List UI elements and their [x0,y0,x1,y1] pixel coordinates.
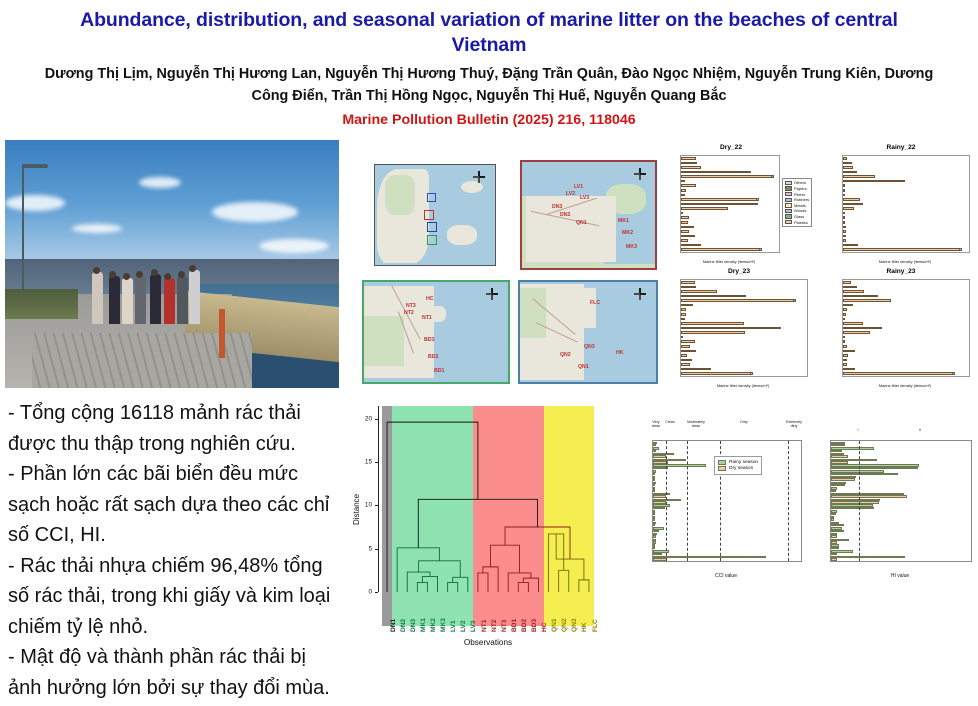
bar [843,198,860,201]
photo-person-head [93,267,100,274]
plot-area: FLCHKQN3QN2QN1HCBD3BD2BD1NT3NT2NT1LV3LV2… [830,440,972,562]
finding-4: - Mật độ và thành phần rác thải bị ảnh h… [8,642,338,703]
bar [831,524,844,526]
bar [653,478,655,480]
bar [681,166,701,169]
bar [843,372,955,375]
site-label-DN2: DN2 [560,212,570,218]
bar [843,313,846,316]
photo-person [92,272,103,324]
bar [843,368,855,371]
bar [843,244,858,247]
x-tick-mark [915,561,916,562]
plot-area: FLCHKQN3QN2QN1HCBD3BD2BD1NT3NT2NT1LV3LV2… [842,279,970,377]
bar [681,363,690,366]
threshold-label: Moderately clean [682,420,710,428]
chart-title: Rainy_22 [838,144,964,151]
study-area-maps: LV1 LV2 LV3 DN3 DN2 QN1 MK1 MK2 MK3 HC N… [360,142,656,388]
threshold-line [788,441,789,561]
x-axis-label: Marine litter density (items/m²) [680,259,778,264]
legend-label: Rubbers [794,197,809,202]
bar [681,322,744,325]
site-label-DN3: DN3 [552,204,562,210]
x-tick-mark [859,561,860,562]
bar [843,221,845,224]
bar-segment [778,327,781,330]
x-tick-mark [868,252,869,253]
map-panel-quang-ninh[interactable]: FLC QN3 QN2 QN1 HK [518,280,658,384]
bar [831,484,845,486]
x-tick-mark [747,561,748,562]
bar [653,455,666,457]
bar [653,501,666,503]
legend-swatch [785,186,792,190]
bar [681,318,685,321]
bar [681,345,690,348]
legend-label: Woods [794,208,806,213]
author-list: Dương Thị Lịm, Nguyễn Thị Hương Lan, Ngu… [0,58,978,107]
x-axis-label: HI value [830,573,970,579]
x-tick-mark [714,252,715,253]
x-tick-mark [887,561,888,562]
chart-rainy23[interactable]: Rainy_23FLCHKQN3QN2QN1HCBD3BD2BD1NT3NT2N… [820,266,978,390]
bar [843,304,853,307]
bar [843,180,905,183]
bar [831,541,837,543]
photo-person [150,274,161,324]
chart-title: Rainy_23 [838,268,964,275]
legend-item: Rainy season [718,459,758,466]
legend-swatch [718,466,726,471]
bar [681,368,711,371]
x-tick-mark [693,561,694,562]
x-tick-mark [735,252,736,253]
chart-rainy22[interactable]: Rainy_22FLCHKQN3QN2QN1HCBD3BD2BD1NT3NT2N… [820,142,978,266]
bar [831,530,844,532]
legend-label: Rainy season [729,460,758,465]
x-tick-mark [843,376,844,377]
x-tick-mark [774,561,775,562]
bar [681,207,728,210]
finding-2: - Phần lớn các bãi biển đều mức sạch hoặ… [8,459,338,551]
bar [831,518,834,520]
bar-segment [952,372,955,375]
photo-person-head [123,273,130,280]
site-label-HK: HK [616,350,624,356]
site-label-LV3: LV3 [580,195,589,201]
bar [831,556,905,558]
bar [843,359,847,362]
site-label-NT3: NT3 [406,303,416,309]
site-label-MK1: MK1 [618,218,629,224]
bar [681,248,762,251]
photo-cloud [5,195,65,211]
x-tick-mark [944,252,945,253]
x-tick-mark [725,252,726,253]
x-tick-mark [731,376,732,377]
x-tick-mark [680,561,681,562]
bar [681,340,695,343]
bar [831,501,879,503]
photo-cloud [139,177,181,188]
bar [681,221,688,224]
photo-lamp-post [22,165,24,294]
bar [843,281,851,284]
legend-swatch [785,214,792,218]
bar [843,157,847,160]
bar [843,290,864,293]
photo-person-head [151,269,158,276]
photo-person [164,278,175,324]
bar [843,216,845,219]
x-tick-mark [933,376,934,377]
bar [843,354,848,357]
site-label-QN1: QN1 [578,364,589,370]
bar-segment [748,171,751,174]
finding-1: - Tổng cộng 16118 mảnh rác thải được thu… [8,398,338,459]
bar [843,322,863,325]
bar [843,212,845,215]
dendrogram-tree [342,396,642,646]
bar [681,313,686,316]
plot-area: FLCHKQN3QN2QN1HCBD3BD2BD1NT3NT2NT1LV3LV2… [680,155,780,253]
bar [653,495,666,497]
legend-item: Plastics [785,219,809,225]
site-label-HC: HC [426,296,434,302]
x-tick-mark [897,376,898,377]
site-label-NT1: NT1 [422,315,432,321]
bar [681,184,696,187]
chart-legend: OthersPapersFibersRubbersMetalsWoodsGlas… [782,178,812,227]
x-tick-mark [915,376,916,377]
chart-dry22[interactable]: Dry_22FLCHKQN3QN2QN1HCBD3BD2BD1NT3NT2NT1… [658,142,818,266]
x-tick-mark [831,561,832,562]
bar [843,189,845,192]
bar [681,308,686,311]
bar [831,461,848,463]
bar [843,239,846,242]
bar [831,455,848,457]
bar [843,295,878,298]
photo-person-head [109,271,116,278]
bar [843,363,847,366]
legend-item: Papers [785,186,809,192]
finding-3: - Rác thải nhựa chiếm 96,48% tổng số rác… [8,551,338,643]
x-tick-mark [807,376,808,377]
poster-header: Abundance, distribution, and seasonal va… [0,0,978,132]
chart-hi[interactable]: FLCHKQN3QN2QN1HCBD3BD2BD1NT3NT2NT1LV3LV2… [806,408,978,593]
x-tick-mark [919,252,920,253]
index-panels: FLCHKQN3QN2QN1HCBD3BD2BD1NT3NT2NT1LV3LV2… [630,408,978,593]
threshold-label: Extremely dirty [780,420,808,428]
bar [653,473,655,475]
map-panel-south-central[interactable]: HC NT3 NT2 NT1 BD3 BD2 BD1 [362,280,510,384]
x-tick-mark [720,561,721,562]
bar [653,444,656,446]
bar [831,558,837,560]
bar-segment [750,372,753,375]
bar [831,444,845,446]
site-label-FLC: FLC [590,300,600,306]
photo-person-head [136,271,143,278]
site-label-QN2: QN2 [560,352,571,358]
legend-swatch [718,460,726,465]
legend-item: Dry season [718,466,758,473]
bar [681,189,686,192]
bar [653,484,655,486]
legend-swatch [785,220,792,224]
legend-swatch [785,192,792,196]
chart-title: Dry_22 [676,144,786,151]
threshold-label: II [906,428,934,432]
x-tick-mark [801,561,802,562]
x-tick-mark [788,561,789,562]
x-tick-mark [861,376,862,377]
x-tick-mark [734,561,735,562]
x-tick-mark [768,252,769,253]
bar [653,556,766,558]
bar [681,350,696,353]
poster-root: Abundance, distribution, and seasonal va… [0,0,978,706]
bar [653,513,655,515]
bar [843,340,845,343]
x-tick-mark [757,376,758,377]
bar [843,207,854,210]
compass-rose-icon [473,171,485,183]
x-tick-mark [879,376,880,377]
x-tick-mark [843,252,844,253]
legend-label: Dry season [729,466,753,471]
bar [681,194,685,197]
x-tick-mark [779,252,780,253]
threshold-line [859,441,860,561]
bar [831,513,836,515]
photo-person [177,276,188,324]
bar [831,495,907,497]
x-axis-label: Marine litter density (items/m²) [842,259,968,264]
legend-label: Papers [794,186,807,191]
bar [681,304,693,307]
photo-orange-post [219,309,225,359]
bar [653,541,656,543]
bar [653,547,655,549]
bar [681,212,683,215]
bar [831,478,855,480]
x-axis-label: CCI value [652,573,800,579]
chart-cci[interactable]: FLCHKQN3QN2QN1HCBD3BD2BD1NT3NT2NT1LV3LV2… [630,408,806,593]
bar [843,299,891,302]
x-tick-mark [681,252,682,253]
bar [843,318,845,321]
site-label-BD1: BD1 [434,368,444,374]
bar [681,157,696,160]
bar-segment [793,299,796,302]
bar [681,244,701,247]
bar [681,180,685,183]
bar [843,350,855,353]
bar [681,235,695,238]
bar [653,553,662,555]
legend-label: Fibers [794,192,805,197]
bar [681,299,796,302]
site-label-LV2: LV2 [566,191,575,197]
bar [653,450,656,452]
x-tick-mark [703,252,704,253]
threshold-label: I [844,428,872,432]
bar [843,286,857,289]
bar [681,290,717,293]
threshold-line [666,441,667,561]
bar [681,359,692,362]
bar [843,162,852,165]
bar [681,175,774,178]
bar [653,535,656,537]
site-label-BD2: BD2 [428,354,438,360]
journal-citation: Marine Pollution Bulletin (2025) 216, 11… [0,107,978,129]
bar [681,354,687,357]
bar [843,331,870,334]
chart-dendrogram[interactable]: 05101520DistanceObservationsDN1DN2DN3MK1… [342,396,642,646]
bar [843,194,845,197]
threshold-label: Dirty [730,420,758,424]
x-tick-mark [969,376,970,377]
threshold-line [687,441,688,561]
bar [831,507,874,509]
bar [653,558,667,560]
x-tick-mark [653,561,654,562]
x-tick-mark [761,561,762,562]
photo-cloud [212,202,298,222]
compass-rose-icon [634,168,646,180]
bar [653,530,659,532]
compass-rose-icon [486,288,498,300]
x-tick-mark [706,376,707,377]
bar [843,175,875,178]
bar [681,198,759,201]
bar [653,507,665,509]
legend-swatch [785,198,792,202]
photo-person [122,278,133,324]
x-tick-mark [782,376,783,377]
fieldwork-photo [5,140,339,388]
chart-title: Dry_23 [676,268,802,275]
bar [843,248,962,251]
legend-label: Others [794,180,806,185]
bar [843,308,847,311]
x-tick-mark [692,252,693,253]
legend-item: Others [785,180,809,186]
site-label-MK3: MK3 [626,244,637,250]
bar [831,535,837,537]
bar [843,166,853,169]
bar [843,226,846,229]
photo-street-lamp [22,164,48,168]
legend-swatch [785,181,792,185]
bar [681,336,683,339]
bar [681,281,695,284]
bar [681,286,696,289]
bar [831,473,898,475]
bar [681,295,746,298]
bar [681,216,689,219]
x-axis-label: Marine litter density (items/m²) [680,383,806,388]
photo-person [135,276,146,324]
x-axis-label: Marine litter density (items/m²) [842,383,968,388]
litter-density-panels: Dry_22FLCHKQN3QN2QN1HCBD3BD2BD1NT3NT2NT1… [658,142,978,390]
bar [843,336,845,339]
bar [681,372,753,375]
bar [831,547,839,549]
chart-legend: Rainy seasonDry season [714,456,762,475]
legend-label: Glass [794,214,804,219]
bar [843,230,846,233]
bar [831,450,842,452]
photo-person-head [189,265,196,272]
bar-segment [756,198,759,201]
bar [681,171,751,174]
x-tick-mark [943,561,944,562]
bar [681,230,689,233]
legend-swatch [785,203,792,207]
bar [843,345,847,348]
bar [653,518,655,520]
bar-segment [959,248,962,251]
bar [681,327,781,330]
bar [843,203,863,206]
legend-label: Plastics [794,220,808,225]
chart-dry23[interactable]: Dry_23FLCHKQN3QN2QN1HCBD3BD2BD1NT3NT2NT1… [658,266,818,390]
x-tick-mark [757,252,758,253]
photo-person-head [164,273,171,280]
legend-label: Metals [794,203,806,208]
bar [843,327,882,330]
compass-rose-icon [634,288,646,300]
legend-item: Rubbers [785,197,809,203]
map-panel-overview[interactable] [374,164,496,266]
photo-person [109,276,120,324]
x-tick-mark [971,561,972,562]
bar [843,235,846,238]
photo-grass [5,289,78,319]
plot-area: FLCHKQN3QN2QN1HCBD3BD2BD1NT3NT2NT1LV3LV2… [842,155,970,253]
bar-segment [755,203,758,206]
site-label-QN3: QN3 [584,344,595,350]
x-tick-mark [893,252,894,253]
bar [831,467,918,469]
threshold-label: Clean [656,420,684,424]
legend-item: Woods [785,208,809,214]
legend-swatch [785,209,792,213]
site-label-BD3: BD3 [424,337,434,343]
site-label-NT2: NT2 [404,310,414,316]
bar [681,226,694,229]
x-tick-mark [951,376,952,377]
site-label-MK2: MK2 [622,230,633,236]
findings-list: - Tổng cộng 16118 mảnh rác thải được thu… [8,398,338,703]
bar [681,162,697,165]
x-tick-mark [969,252,970,253]
bar [681,331,745,334]
map-panel-north-central[interactable]: LV1 LV2 LV3 DN3 DN2 QN1 MK1 MK2 MK3 [520,160,657,270]
photo-person [189,270,200,324]
x-tick-mark [707,561,708,562]
site-label-QN1: QN1 [576,220,587,226]
x-tick-mark [746,252,747,253]
bar [681,203,758,206]
bar [831,553,837,555]
bar [681,239,688,242]
page-title: Abundance, distribution, and seasonal va… [0,0,978,58]
